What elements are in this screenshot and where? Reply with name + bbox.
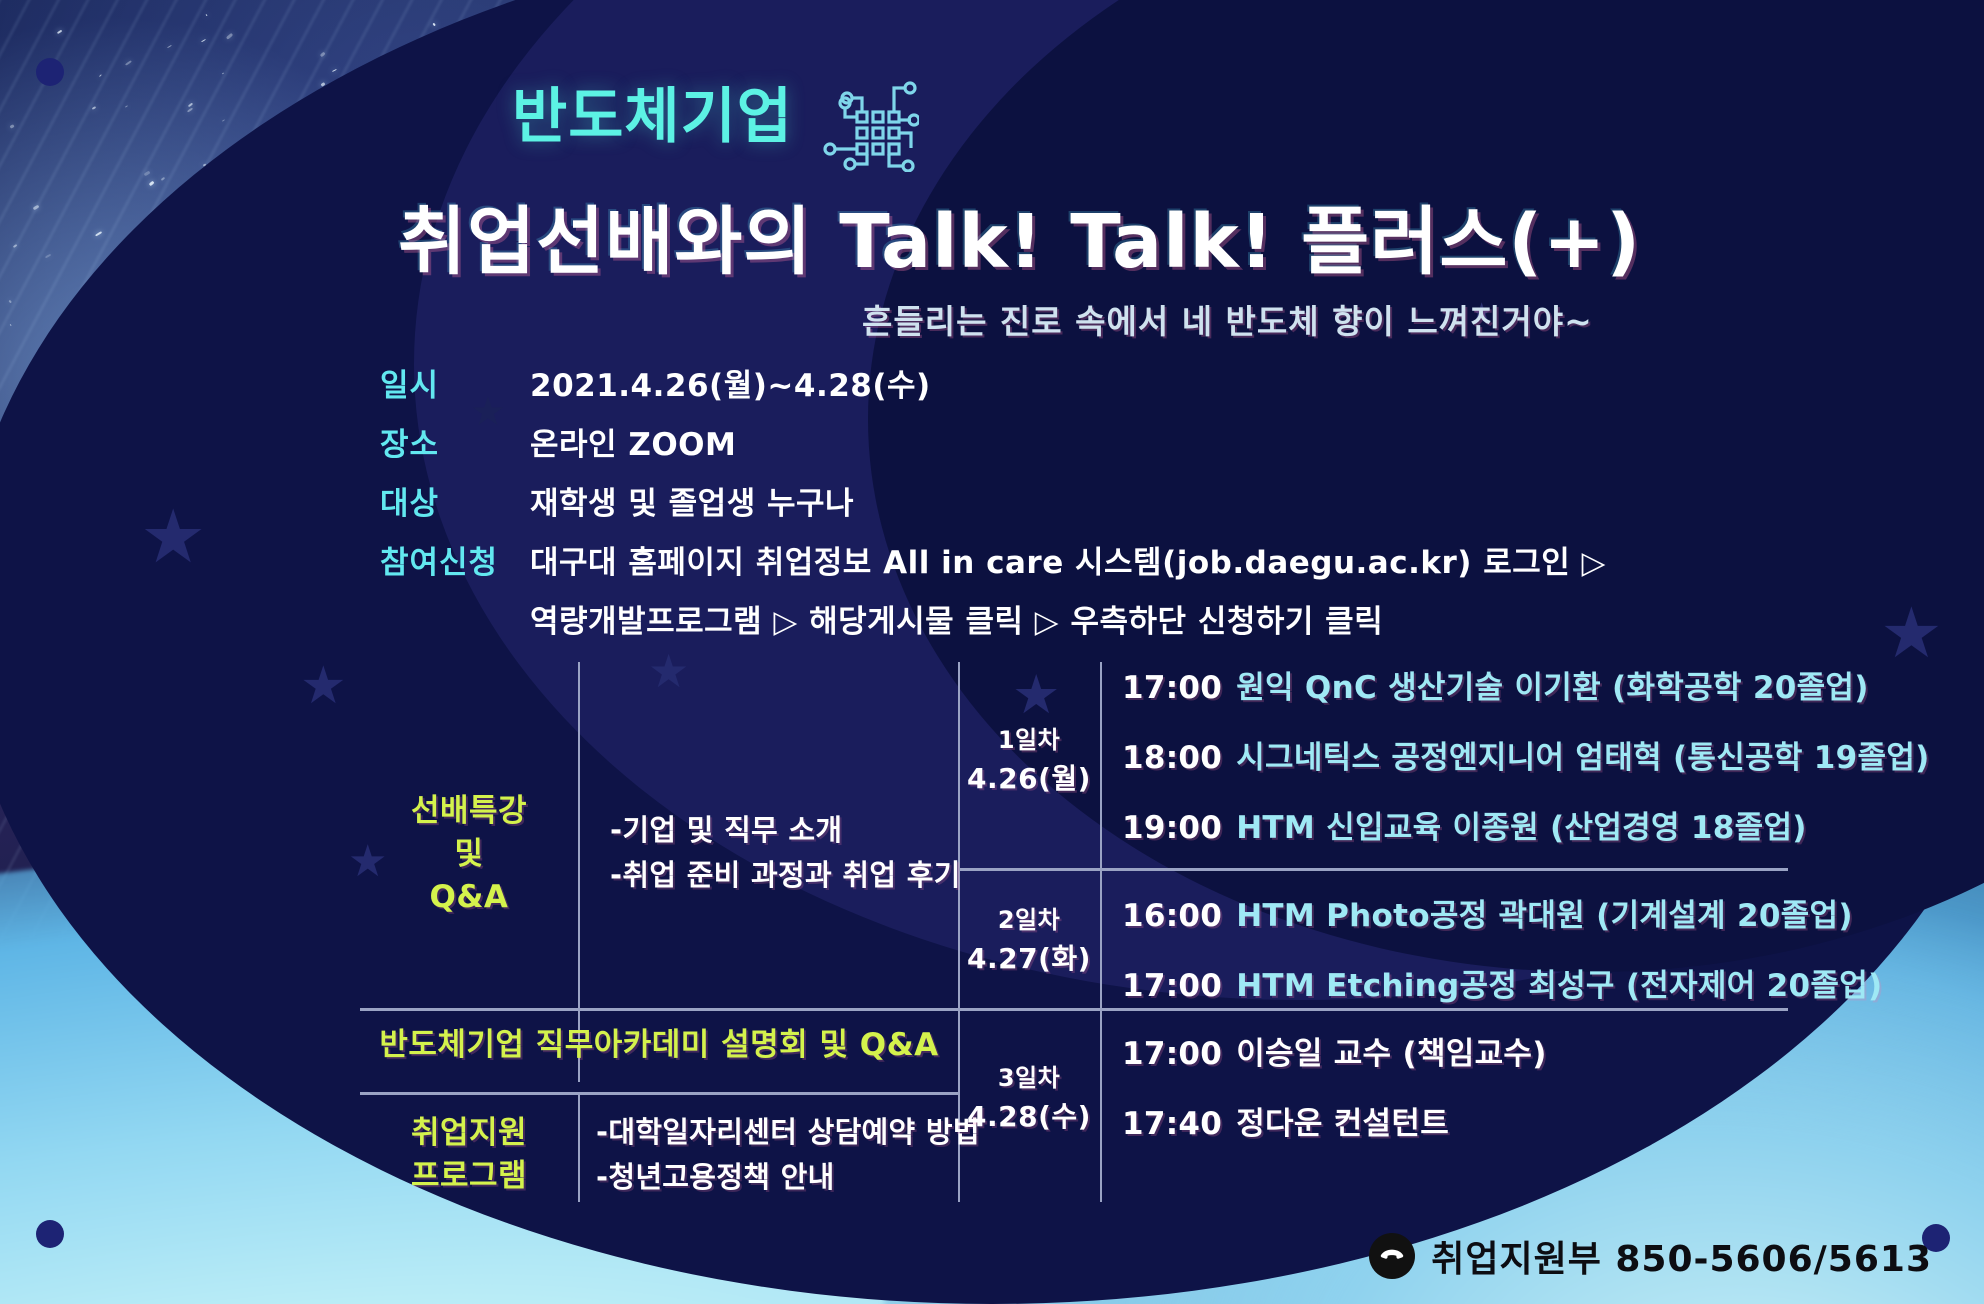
table-hline-cat2-cat3 bbox=[360, 1092, 958, 1095]
info-value-date: 2021.4.26(월)~4.28(수) bbox=[530, 360, 931, 405]
event-info-block: 일시 2021.4.26(월)~4.28(수) 장소 온라인 ZOOM 대상 재… bbox=[380, 360, 1606, 641]
session-detail: 시그네틱스 공정엔지니어 엄태혁 (통신공학 19졸업) bbox=[1236, 740, 1929, 776]
session-detail: HTM 신입교육 이종원 (산업경영 18졸업) bbox=[1236, 810, 1807, 846]
poster-tagline: 흔들리는 진로 속에서 네 반도체 향이 느껴진거야~ bbox=[862, 295, 1593, 343]
info-label-place: 장소 bbox=[380, 419, 530, 464]
table-description-2: -대학일자리센터 상담예약 방법 -청년고용정책 안내 bbox=[596, 1110, 980, 1200]
table-category-1: 선배특강 및 Q&A bbox=[360, 790, 578, 918]
session-time: 18:00 bbox=[1122, 740, 1222, 776]
table-day-1: 1일차 4.26(월) bbox=[958, 722, 1100, 800]
session-detail: HTM Etching공정 최성구 (전자제어 20졸업) bbox=[1236, 968, 1882, 1004]
table-vline-1b bbox=[578, 1092, 580, 1202]
category-2-line-1: 반도체기업 직무아카데미 설명회 및 Q&A bbox=[379, 1024, 938, 1067]
poster-content: 반도체기업 bbox=[0, 0, 1984, 1304]
table-description-1: -기업 및 직무 소개 -취업 준비 과정과 취업 후기 bbox=[610, 808, 961, 898]
table-hline-day2-day3 bbox=[360, 1008, 1788, 1011]
session-detail: 정다운 컨설턴트 bbox=[1236, 1106, 1449, 1142]
session-row: 17:00원익 QnC 생산기술 이기환 (화학공학 20졸업) bbox=[1122, 662, 1869, 707]
day-1-date: 4.26(월) bbox=[967, 758, 1091, 800]
info-row-audience: 대상 재학생 및 졸업생 누구나 bbox=[380, 478, 1606, 523]
table-category-2: 반도체기업 직무아카데미 설명회 및 Q&A bbox=[360, 1024, 958, 1067]
session-row: 17:00HTM Etching공정 최성구 (전자제어 20졸업) bbox=[1122, 960, 1883, 1005]
table-day-2: 2일차 4.27(화) bbox=[958, 902, 1100, 980]
info-row-date: 일시 2021.4.26(월)~4.28(수) bbox=[380, 360, 1606, 405]
info-label-audience: 대상 bbox=[380, 478, 530, 523]
category-1-line-3: Q&A bbox=[411, 876, 527, 919]
table-day-3: 3일차 4.28(수) bbox=[958, 1060, 1100, 1138]
description-1-line-1: -기업 및 직무 소개 bbox=[610, 808, 961, 853]
session-time: 17:00 bbox=[1122, 1036, 1222, 1072]
day-2-date: 4.27(화) bbox=[967, 938, 1091, 980]
session-detail: 원익 QnC 생산기술 이기환 (화학공학 20졸업) bbox=[1236, 670, 1869, 706]
session-time: 16:00 bbox=[1122, 898, 1222, 934]
session-row: 17:00이승일 교수 (책임교수) bbox=[1122, 1028, 1547, 1073]
poster-title: 취업선배와의 Talk! Talk! 플러스(+) bbox=[398, 182, 1641, 289]
phone-icon bbox=[1369, 1233, 1415, 1279]
footer-contact: 취업지원부 850-5606/5613 bbox=[1369, 1230, 1932, 1282]
info-label-date: 일시 bbox=[380, 360, 530, 405]
day-2-number: 2일차 bbox=[967, 902, 1091, 938]
description-1-line-2: -취업 준비 과정과 취업 후기 bbox=[610, 853, 961, 898]
circuit-chip-icon bbox=[819, 72, 919, 176]
info-label-registration: 참여신청 bbox=[380, 537, 530, 582]
table-vline-3 bbox=[1100, 662, 1102, 1202]
table-hline-day1-day2 bbox=[958, 868, 1788, 871]
info-value-place: 온라인 ZOOM bbox=[530, 419, 736, 464]
day-3-number: 3일차 bbox=[967, 1060, 1091, 1096]
category-1-line-1: 선배특강 bbox=[411, 790, 527, 833]
session-time: 17:00 bbox=[1122, 968, 1222, 1004]
kicker-text: 반도체기업 bbox=[512, 68, 793, 155]
day-1-number: 1일차 bbox=[967, 722, 1091, 758]
description-2-line-2: -청년고용정책 안내 bbox=[596, 1155, 980, 1200]
category-1-line-2: 및 bbox=[411, 833, 527, 876]
session-detail: HTM Photo공정 곽대원 (기계설계 20졸업) bbox=[1236, 898, 1853, 934]
description-2-line-1: -대학일자리센터 상담예약 방법 bbox=[596, 1110, 980, 1155]
session-time: 17:00 bbox=[1122, 670, 1222, 706]
poster-root: ★ ★ ★ ★ ★ ★ ★ ★ 반도체기업 bbox=[0, 0, 1984, 1304]
info-row-registration: 참여신청 대구대 홈페이지 취업정보 All in care 시스템(job.d… bbox=[380, 537, 1606, 582]
session-row: 19:00HTM 신입교육 이종원 (산업경영 18졸업) bbox=[1122, 802, 1807, 847]
session-row: 18:00시그네틱스 공정엔지니어 엄태혁 (통신공학 19졸업) bbox=[1122, 732, 1930, 777]
session-row: 16:00HTM Photo공정 곽대원 (기계설계 20졸업) bbox=[1122, 890, 1853, 935]
table-vline-1 bbox=[578, 662, 580, 1082]
category-3-line-1: 취업지원 bbox=[411, 1112, 527, 1155]
schedule-table: 선배특강 및 Q&A -기업 및 직무 소개 -취업 준비 과정과 취업 후기 … bbox=[360, 640, 1920, 1180]
day-3-date: 4.28(수) bbox=[967, 1096, 1091, 1138]
info-value-audience: 재학생 및 졸업생 누구나 bbox=[530, 478, 854, 523]
session-row: 17:40정다운 컨설턴트 bbox=[1122, 1098, 1449, 1143]
table-category-3: 취업지원 프로그램 bbox=[360, 1112, 578, 1198]
info-value-registration-continued: 역량개발프로그램 ▷ 해당게시물 클릭 ▷ 우측하단 신청하기 클릭 bbox=[530, 596, 1606, 641]
category-3-line-2: 프로그램 bbox=[411, 1155, 527, 1198]
footer-text: 취업지원부 850-5606/5613 bbox=[1431, 1230, 1932, 1282]
info-row-place: 장소 온라인 ZOOM bbox=[380, 419, 1606, 464]
info-value-registration: 대구대 홈페이지 취업정보 All in care 시스템(job.daegu.… bbox=[530, 537, 1606, 582]
session-time: 17:40 bbox=[1122, 1106, 1222, 1142]
session-detail: 이승일 교수 (책임교수) bbox=[1236, 1036, 1547, 1072]
headline-row: 반도체기업 bbox=[512, 68, 919, 176]
session-time: 19:00 bbox=[1122, 810, 1222, 846]
